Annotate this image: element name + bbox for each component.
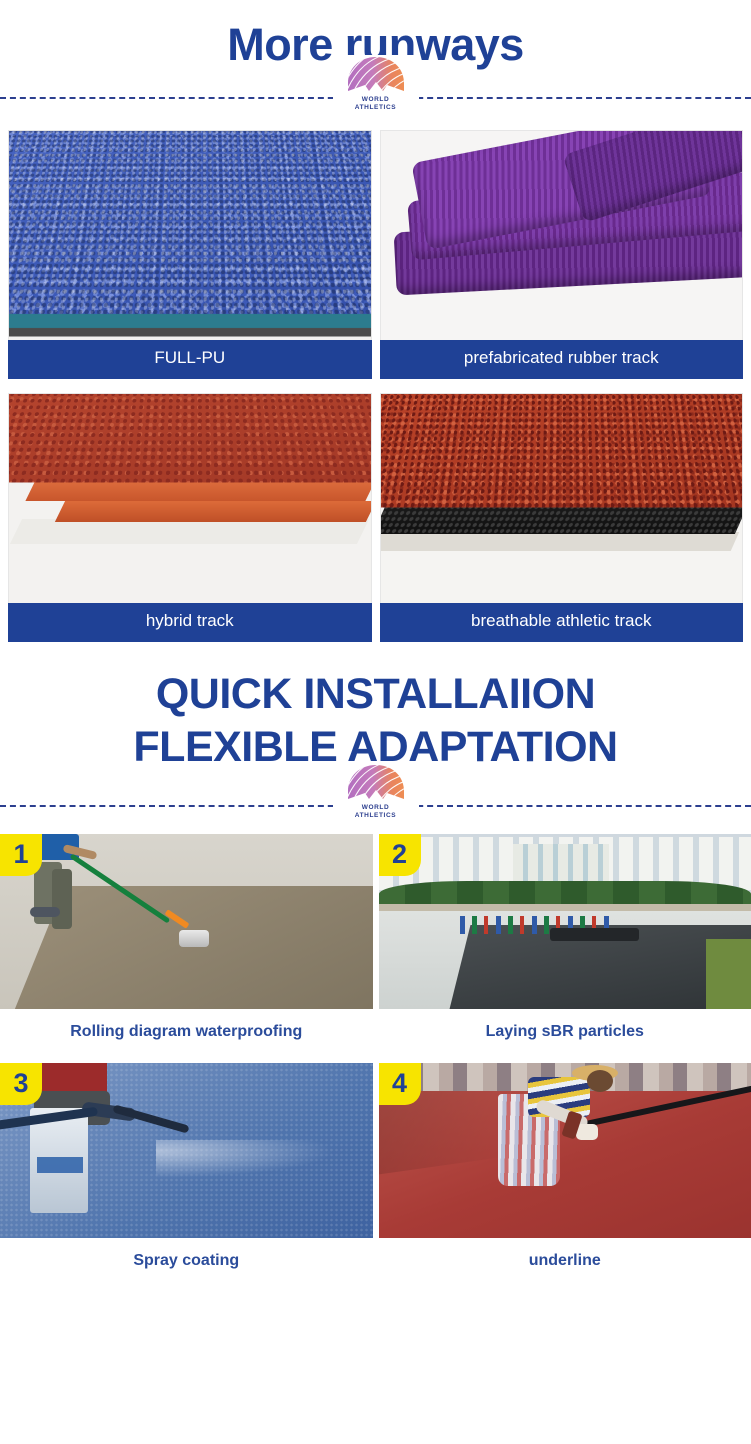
product-grid: FULL-PU prefabricated rubber track: [0, 130, 751, 641]
hybrid-top-granules: [8, 393, 372, 482]
hybrid-track-illustration: [9, 394, 371, 603]
step-badge-1: 1: [0, 834, 42, 876]
installation-title-line1: QUICK INSTALLAIION: [0, 672, 751, 717]
installation-section-header: QUICK INSTALLAIION FLEXIBLE ADAPTATION: [0, 672, 751, 770]
logo-text: WORLD ATHLETICS: [341, 804, 411, 820]
world-athletics-mark-icon: [345, 763, 407, 803]
world-athletics-mark-icon: [345, 55, 407, 95]
paving-machine: [550, 928, 639, 940]
product-card-prefabricated-rubber-track[interactable]: prefabricated rubber track: [380, 130, 744, 379]
product-card-full-pu[interactable]: FULL-PU: [8, 130, 372, 379]
product-photo-full-pu: [8, 130, 372, 340]
granule-texture: [8, 130, 372, 313]
product-caption: breathable athletic track: [380, 603, 744, 642]
logo-text: WORLD ATHLETICS: [341, 96, 411, 112]
step-caption-4: underline: [379, 1238, 751, 1292]
step-caption-3: Spray coating: [0, 1238, 373, 1292]
step3-illustration: [0, 1063, 373, 1238]
step-card-3[interactable]: 3 Spray coating: [0, 1063, 373, 1292]
product-caption: FULL-PU: [8, 340, 372, 379]
step-photo-2: 2: [379, 834, 751, 1009]
prefab-rubber-illustration: [381, 131, 743, 340]
worker-head: [587, 1070, 613, 1092]
blue-granule-slab: [8, 130, 372, 313]
breathable-track-illustration: [381, 394, 743, 603]
world-athletics-logo: WORLD ATHLETICS: [333, 55, 419, 112]
step4-illustration: [379, 1063, 751, 1238]
product-photo-prefabricated-rubber: [380, 130, 744, 340]
step-photo-4: 4: [379, 1063, 751, 1238]
full-pu-illustration: [9, 131, 371, 340]
breathable-red-granules: [380, 393, 744, 507]
worker-glove: [576, 1124, 598, 1140]
breathable-base-layer: [380, 532, 739, 551]
product-card-breathable-athletic-track[interactable]: breathable athletic track: [380, 393, 744, 642]
logo-text-line2: ATHLETICS: [355, 812, 396, 819]
world-athletics-logo: WORLD ATHLETICS: [333, 763, 419, 820]
step-badge-3: 3: [0, 1063, 42, 1105]
step-badge-2: 2: [379, 834, 421, 876]
step2-illustration: [379, 834, 751, 1009]
logo-text-line2: ATHLETICS: [355, 104, 396, 111]
product-photo-breathable-track: [380, 393, 744, 603]
divider-with-logo-bottom: WORLD ATHLETICS: [0, 780, 751, 832]
grass-verge: [706, 939, 751, 1009]
paint-roller: [179, 930, 209, 947]
bag-label: [37, 1157, 83, 1173]
step-card-4[interactable]: 4 underline: [379, 1063, 751, 1292]
product-card-hybrid-track[interactable]: hybrid track: [8, 393, 372, 642]
promo-page: More runways: [0, 0, 751, 1444]
step-card-2[interactable]: 2 Laying sBR particles: [379, 834, 751, 1063]
hybrid-layer-2: [55, 501, 372, 522]
spray-mist: [156, 1140, 335, 1179]
divider-with-logo-top: WORLD ATHLETICS: [0, 72, 751, 124]
step-badge-4: 4: [379, 1063, 421, 1105]
product-caption: hybrid track: [8, 603, 372, 642]
installation-step-grid: 1 Rolling diagram waterproofing 2: [0, 834, 751, 1292]
worker-foot: [30, 907, 60, 917]
logo-text-line1: WORLD: [362, 96, 390, 103]
logo-text-line1: WORLD: [362, 804, 390, 811]
step-caption-2: Laying sBR particles: [379, 1009, 751, 1063]
hybrid-base-layer: [10, 519, 369, 544]
step-photo-3: 3: [0, 1063, 373, 1238]
product-photo-hybrid-track: [8, 393, 372, 603]
step1-illustration: [0, 834, 373, 1009]
product-caption: prefabricated rubber track: [380, 340, 744, 379]
worker-leg-right: [52, 869, 72, 929]
step-photo-1: 1: [0, 834, 373, 1009]
step-card-1[interactable]: 1 Rolling diagram waterproofing: [0, 834, 373, 1063]
step-caption-1: Rolling diagram waterproofing: [0, 1009, 373, 1063]
